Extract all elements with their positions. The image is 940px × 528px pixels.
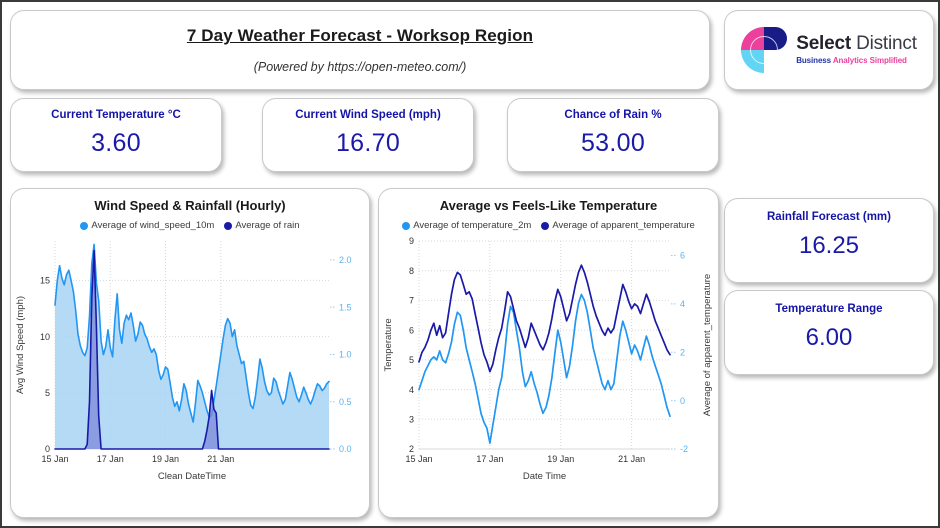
- stat-label: Temperature Range: [725, 303, 933, 315]
- logo-tagline-first: Business: [796, 56, 833, 65]
- stat-value: 16.25: [725, 232, 933, 260]
- legend-label: Average of apparent_temperature: [552, 220, 694, 231]
- svg-text:Clean DateTime: Clean DateTime: [158, 471, 226, 482]
- legend-swatch-icon: [541, 222, 549, 230]
- svg-text:2.0: 2.0: [339, 255, 352, 265]
- svg-text:Date Time: Date Time: [523, 471, 566, 482]
- svg-text:1.0: 1.0: [339, 350, 352, 360]
- plot-area-chart-2: 23456789-2024615 Jan17 Jan19 Jan21 JanTe…: [379, 231, 718, 483]
- kpi-card-current-temperature[interactable]: Current Temperature °C 3.60: [10, 98, 222, 172]
- svg-text:4: 4: [680, 299, 685, 309]
- logo-name: Select Distinct: [796, 34, 917, 54]
- legend-item[interactable]: Average of apparent_temperature: [541, 220, 694, 231]
- dashboard-root: 7 Day Weather Forecast - Worksop Region …: [0, 0, 940, 528]
- svg-text:19 Jan: 19 Jan: [547, 454, 574, 464]
- svg-text:6: 6: [409, 325, 414, 335]
- svg-text:4: 4: [409, 385, 414, 395]
- svg-text:15 Jan: 15 Jan: [405, 454, 432, 464]
- svg-text:17 Jan: 17 Jan: [476, 454, 503, 464]
- plot-area-chart-1: 0510150.00.51.01.52.015 Jan17 Jan19 Jan2…: [11, 231, 369, 483]
- kpi-value: 16.70: [263, 129, 473, 158]
- chart-card-average-vs-feels-like[interactable]: Average vs Feels-Like Temperature Averag…: [378, 188, 719, 518]
- logo-name-light: Distinct: [851, 33, 917, 54]
- svg-text:8: 8: [409, 266, 414, 276]
- legend-item[interactable]: Average of wind_speed_10m: [80, 220, 214, 231]
- svg-text:2: 2: [680, 347, 685, 357]
- svg-text:0: 0: [45, 444, 50, 454]
- kpi-value: 3.60: [11, 129, 221, 158]
- legend-label: Average of wind_speed_10m: [91, 220, 214, 231]
- svg-text:7: 7: [409, 296, 414, 306]
- kpi-card-current-wind-speed[interactable]: Current Wind Speed (mph) 16.70: [262, 98, 474, 172]
- svg-text:15: 15: [40, 276, 50, 286]
- chart-card-wind-speed-rainfall[interactable]: Wind Speed & Rainfall (Hourly) Average o…: [10, 188, 370, 518]
- kpi-label: Current Wind Speed (mph): [263, 109, 473, 121]
- svg-text:-2: -2: [680, 444, 688, 454]
- legend-label: Average of rain: [235, 220, 299, 231]
- svg-text:Temperature: Temperature: [383, 318, 394, 371]
- legend-swatch-icon: [402, 222, 410, 230]
- svg-text:0: 0: [680, 396, 685, 406]
- logo-tagline: Business Analytics Simplified: [796, 57, 917, 65]
- legend-swatch-icon: [224, 222, 232, 230]
- logo-tagline-second: Analytics Simplified: [833, 56, 907, 65]
- svg-text:21 Jan: 21 Jan: [618, 454, 645, 464]
- svg-text:1.5: 1.5: [339, 302, 352, 312]
- legend-label: Average of temperature_2m: [413, 220, 531, 231]
- kpi-label: Chance of Rain %: [508, 109, 718, 121]
- stat-card-temperature-range[interactable]: Temperature Range 6.00: [724, 290, 934, 375]
- svg-text:2: 2: [409, 444, 414, 454]
- svg-text:9: 9: [409, 236, 414, 246]
- chart-title: Wind Speed & Rainfall (Hourly): [11, 198, 369, 213]
- kpi-card-chance-of-rain[interactable]: Chance of Rain % 53.00: [507, 98, 719, 172]
- stat-value: 6.00: [725, 324, 933, 352]
- svg-text:19 Jan: 19 Jan: [152, 454, 179, 464]
- svg-text:0.5: 0.5: [339, 397, 352, 407]
- svg-text:5: 5: [45, 388, 50, 398]
- logo-name-bold: Select: [796, 33, 851, 54]
- svg-text:Average of apparent_temperatur: Average of apparent_temperature: [702, 274, 713, 416]
- chart-title: Average vs Feels-Like Temperature: [379, 198, 718, 213]
- svg-text:0.0: 0.0: [339, 444, 352, 454]
- svg-text:21 Jan: 21 Jan: [207, 454, 234, 464]
- svg-text:6: 6: [680, 251, 685, 261]
- svg-text:3: 3: [409, 414, 414, 424]
- stat-label: Rainfall Forecast (mm): [725, 211, 933, 223]
- select-distinct-logo-icon: [741, 27, 787, 73]
- legend-item[interactable]: Average of rain: [224, 220, 299, 231]
- svg-text:15 Jan: 15 Jan: [41, 454, 68, 464]
- legend-item[interactable]: Average of temperature_2m: [402, 220, 531, 231]
- stat-card-rainfall-forecast[interactable]: Rainfall Forecast (mm) 16.25: [724, 198, 934, 283]
- svg-text:5: 5: [409, 355, 414, 365]
- svg-text:10: 10: [40, 332, 50, 342]
- svg-text:17 Jan: 17 Jan: [97, 454, 124, 464]
- logo-card: Select Distinct Business Analytics Simpl…: [724, 10, 934, 90]
- logo-text: Select Distinct Business Analytics Simpl…: [796, 34, 917, 65]
- page-title: 7 Day Weather Forecast - Worksop Region: [11, 26, 709, 46]
- page-subtitle: (Powered by https://open-meteo.com/): [11, 60, 709, 74]
- chart-legend: Average of temperature_2m Average of app…: [379, 220, 718, 231]
- title-card: 7 Day Weather Forecast - Worksop Region …: [10, 10, 710, 90]
- svg-text:Avg Wind Speed (mph): Avg Wind Speed (mph): [15, 296, 26, 394]
- kpi-label: Current Temperature °C: [11, 109, 221, 121]
- kpi-value: 53.00: [508, 129, 718, 158]
- legend-swatch-icon: [80, 222, 88, 230]
- chart-legend: Average of wind_speed_10m Average of rai…: [11, 220, 369, 231]
